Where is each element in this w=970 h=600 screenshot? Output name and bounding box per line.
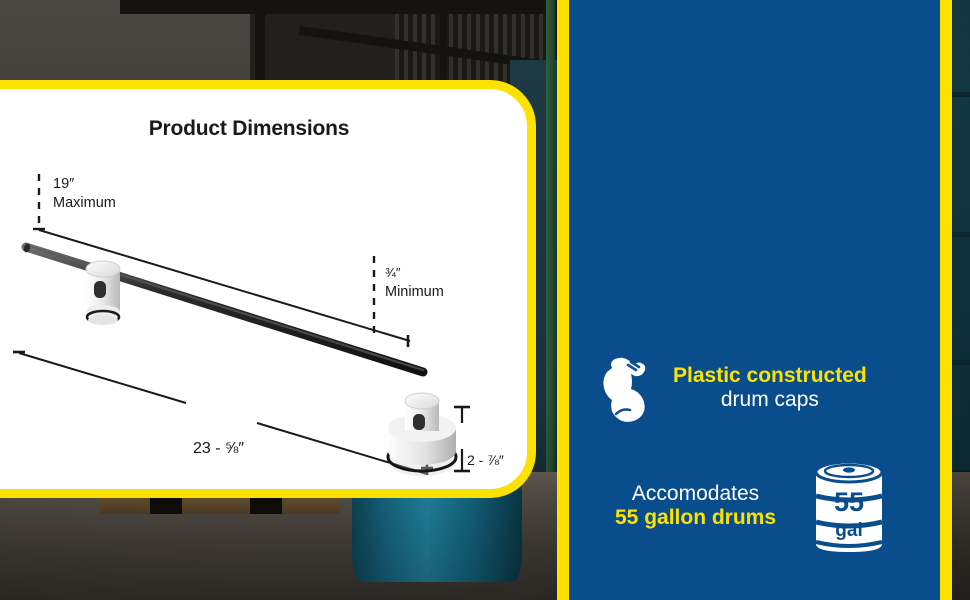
- feature-plastic-constructed: Plastic constructed drum caps: [595, 352, 867, 424]
- divider-stripe-left: [557, 0, 569, 600]
- feature-plastic-line1: Plastic constructed: [673, 364, 867, 388]
- feature-drums-text: Accomodates 55 gallon drums: [615, 482, 776, 529]
- infographic-stage: Product Dimensions: [0, 0, 970, 600]
- drum-badge-number: 55: [834, 487, 864, 517]
- end-drum-cap: [388, 393, 456, 476]
- feature-plastic-line2: drum caps: [673, 388, 867, 412]
- drum-badge-unit: gal: [835, 520, 862, 541]
- sliding-drum-cap: [86, 261, 120, 325]
- feature-drums-line1: Accomodates: [615, 482, 776, 506]
- dimension-drawing: [0, 89, 527, 489]
- length-dimension-label: 23 - ⅝″: [193, 439, 244, 459]
- feature-drums-line2: 55 gallon drums: [615, 506, 776, 530]
- bung-wrench-rod: [23, 243, 423, 372]
- max-dimension-caption: Maximum: [53, 195, 116, 211]
- feature-accommodates-drums: Accomodates 55 gallon drums 55 gal: [615, 456, 890, 556]
- min-dimension-value: ¾″: [385, 265, 400, 280]
- divider-stripe-right: [940, 0, 952, 600]
- max-dimension-label: 19″ Maximum: [53, 175, 116, 212]
- min-dimension-caption: Minimum: [385, 284, 444, 300]
- height-dimension-label: 2 - ⅞″: [467, 452, 504, 470]
- max-dimension-value: 19″: [53, 176, 74, 192]
- flexed-bicep-icon: [595, 352, 657, 424]
- product-dimensions-card: Product Dimensions: [0, 80, 536, 498]
- length-dimension-line-a: [19, 353, 186, 403]
- feature-plastic-text: Plastic constructed drum caps: [673, 364, 867, 411]
- feature-panel: Plastic constructed drum caps Accomodate…: [569, 0, 940, 600]
- oil-drum-icon: 55 gal: [808, 456, 890, 556]
- min-dimension-label: ¾″ Minimum: [385, 264, 444, 301]
